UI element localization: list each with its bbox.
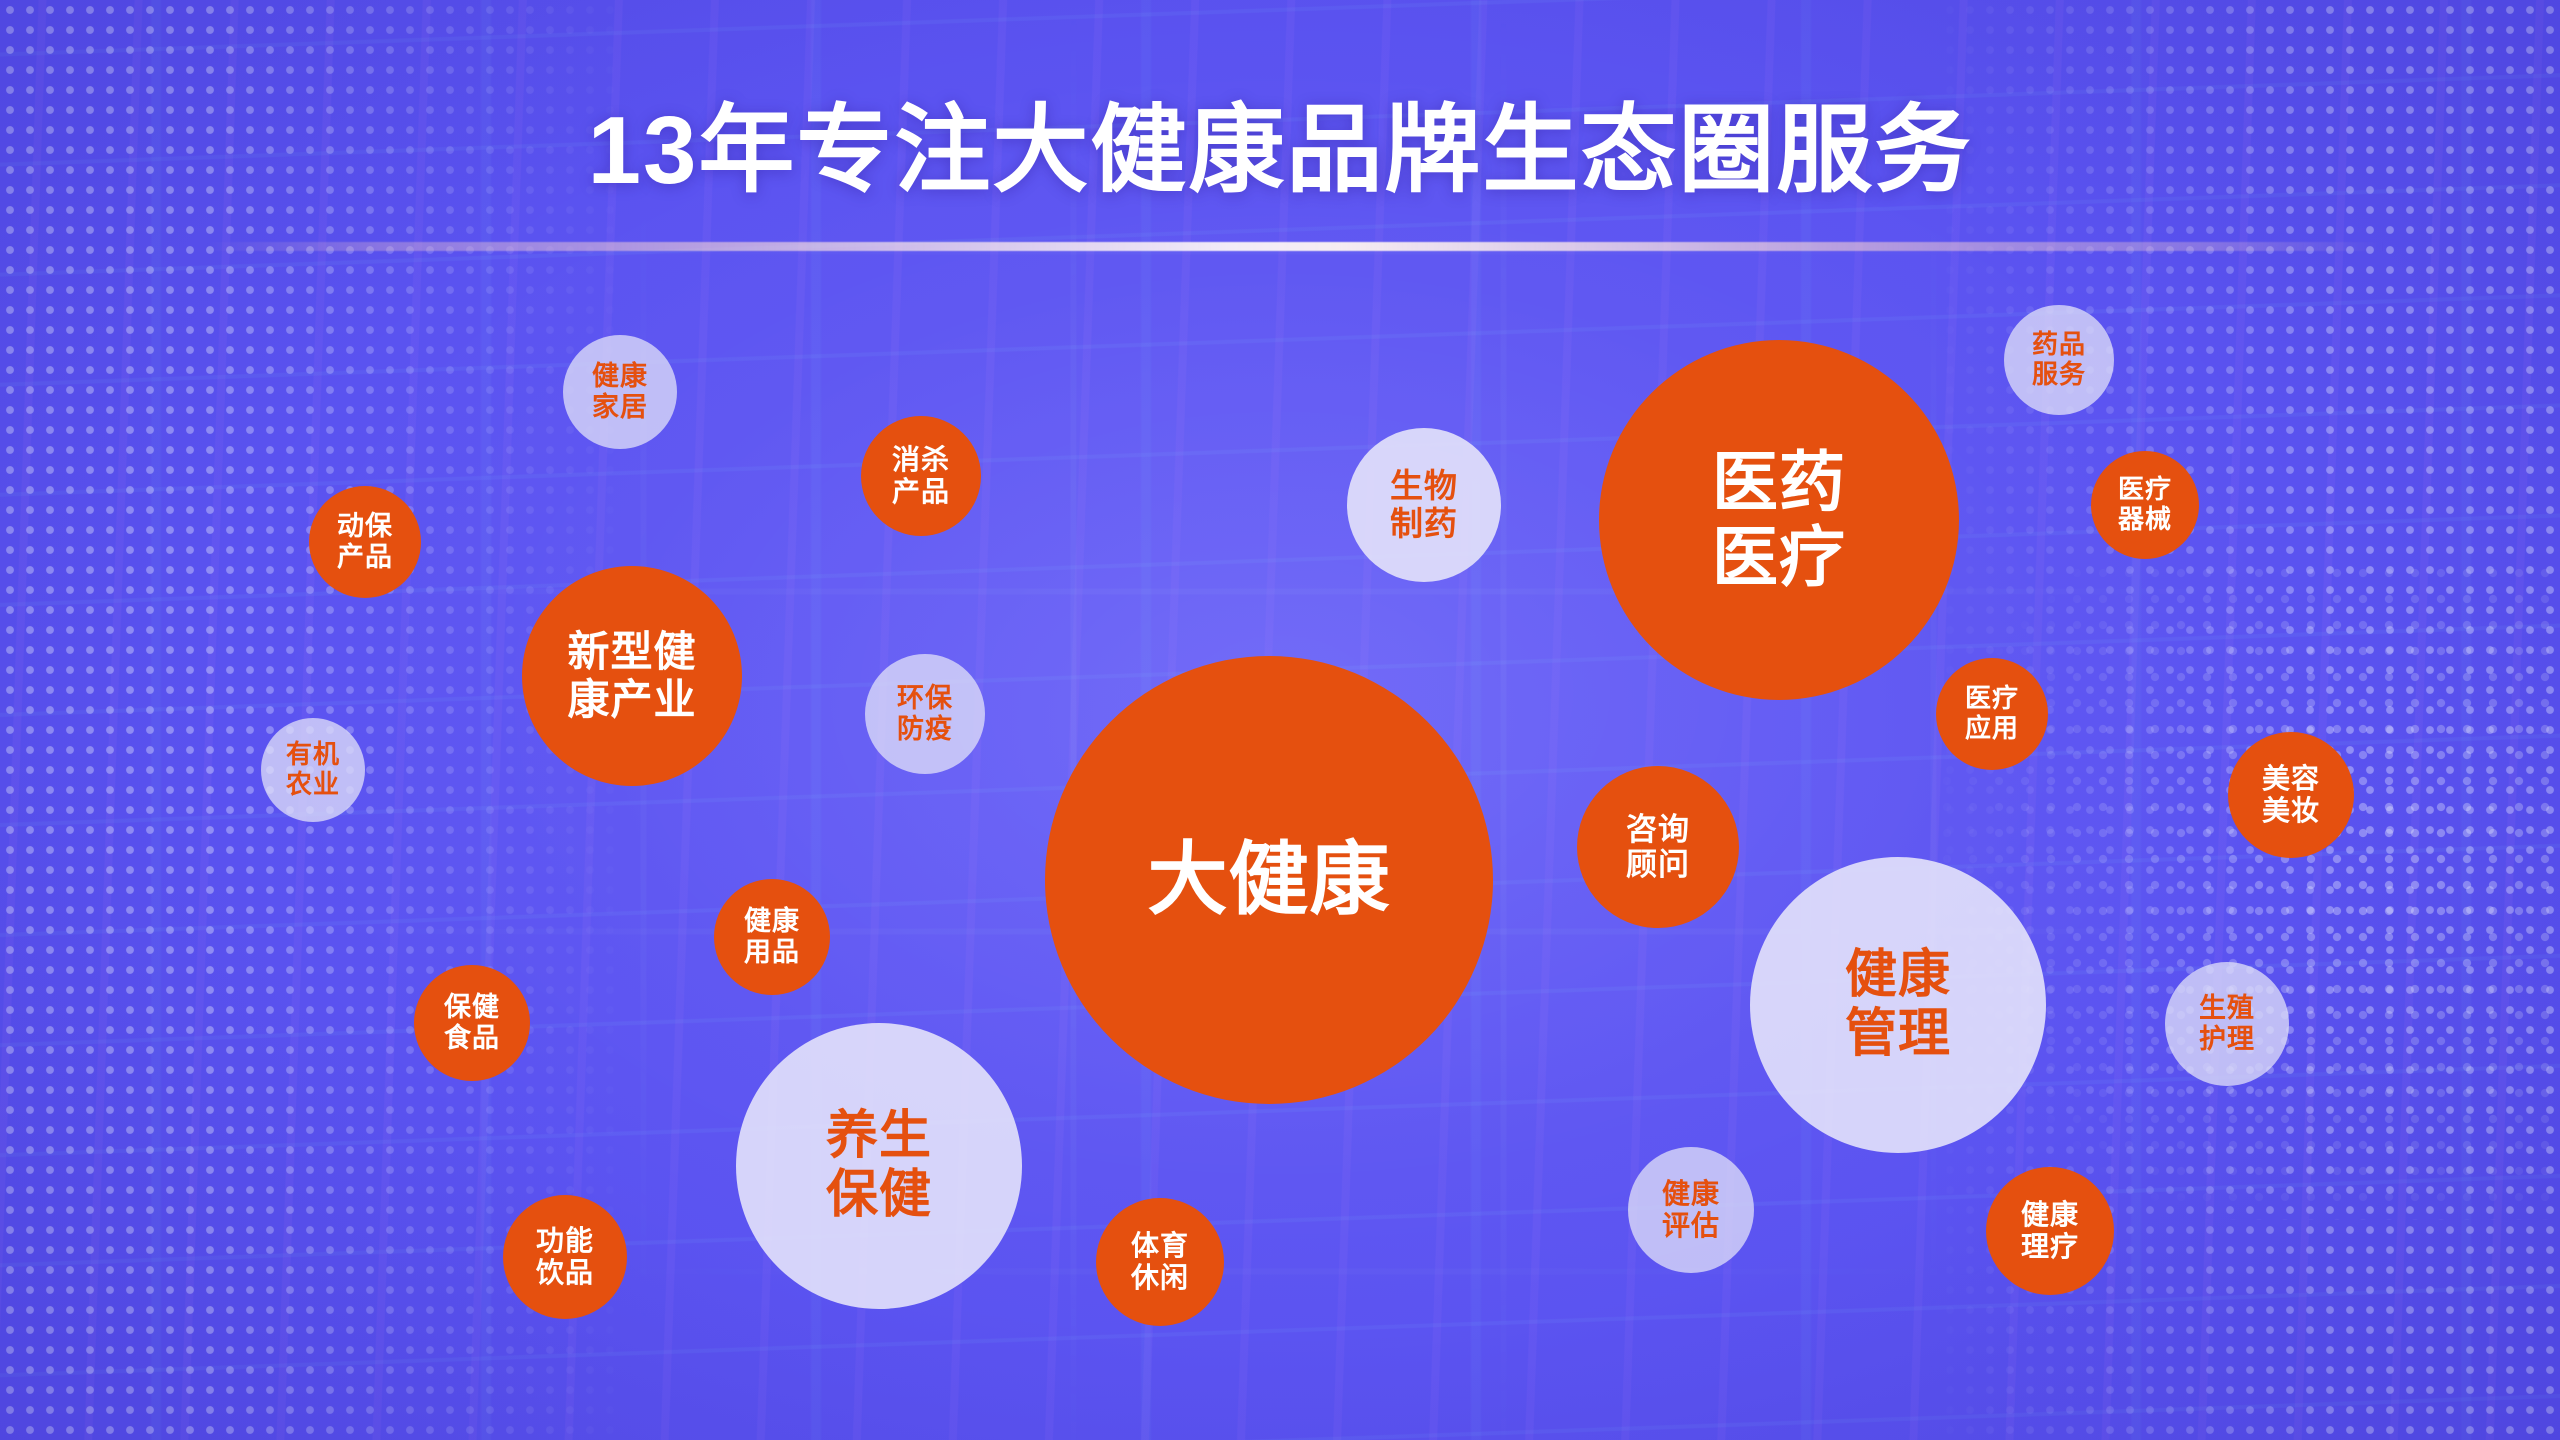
bubble-sports-leisure[interactable]: 体育 休闲 bbox=[1096, 1198, 1224, 1326]
bubble-animal-health[interactable]: 动保 产品 bbox=[309, 486, 421, 598]
bubble-drug-service[interactable]: 药品 服务 bbox=[2004, 305, 2114, 415]
bubble-disinfection[interactable]: 消杀 产品 bbox=[861, 416, 981, 536]
title-divider-line bbox=[206, 242, 2384, 251]
bubble-consulting[interactable]: 咨询 顾问 bbox=[1577, 766, 1739, 928]
bubble-health-home[interactable]: 健康 家居 bbox=[563, 335, 677, 449]
bubble-health-supplies[interactable]: 健康 用品 bbox=[714, 879, 830, 995]
bubble-health-assessment[interactable]: 健康 评估 bbox=[1628, 1147, 1754, 1273]
page-title: 13年专注大健康品牌生态圈服务 bbox=[0, 72, 2560, 211]
bubble-medical-app[interactable]: 医疗 应用 bbox=[1936, 658, 2048, 770]
infographic-canvas: 13年专注大健康品牌生态圈服务 健康 家居动保 产品消杀 产品新型健 康产业有机… bbox=[0, 0, 2560, 1440]
bubble-eco-epidemic[interactable]: 环保 防疫 bbox=[865, 654, 985, 774]
bubble-organic-agriculture[interactable]: 有机 农业 bbox=[261, 718, 365, 822]
bubble-beauty-cosmetics[interactable]: 美容 美妆 bbox=[2228, 732, 2354, 858]
bubble-medicine-medical[interactable]: 医药 医疗 bbox=[1599, 340, 1959, 700]
bubble-reproductive-care[interactable]: 生殖 护理 bbox=[2165, 962, 2289, 1086]
bubble-wellness-care[interactable]: 养生 保健 bbox=[736, 1023, 1022, 1309]
bubble-healthcare-food[interactable]: 保健 食品 bbox=[414, 965, 530, 1081]
bubble-new-health-industry[interactable]: 新型健 康产业 bbox=[522, 566, 742, 786]
bubble-big-health[interactable]: 大健康 bbox=[1045, 656, 1493, 1104]
bubble-functional-drinks[interactable]: 功能 饮品 bbox=[503, 1195, 627, 1319]
bubble-health-therapy[interactable]: 健康 理疗 bbox=[1986, 1167, 2114, 1295]
bubble-medical-device[interactable]: 医疗 器械 bbox=[2091, 451, 2199, 559]
bubble-health-management[interactable]: 健康 管理 bbox=[1750, 857, 2046, 1153]
bubble-bio-pharma[interactable]: 生物 制药 bbox=[1347, 428, 1501, 582]
